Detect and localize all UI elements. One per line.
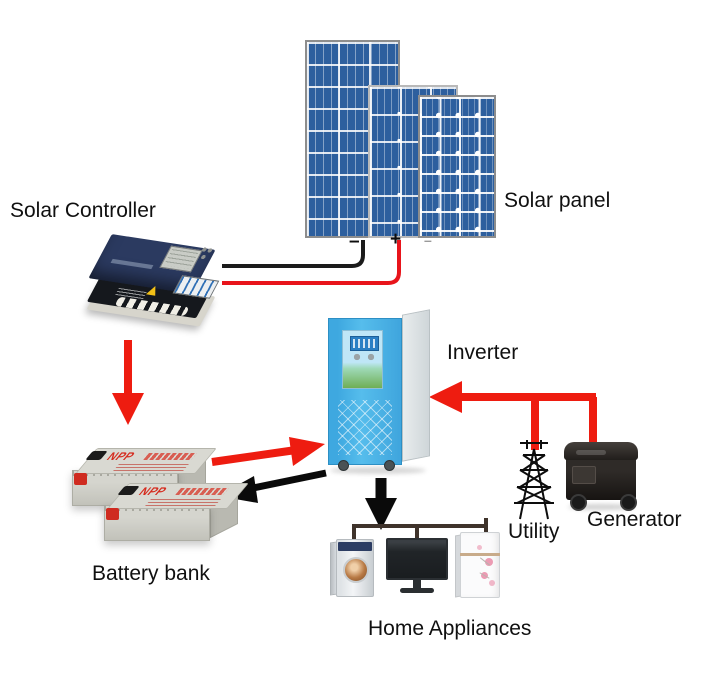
battery-positive-terminal xyxy=(74,473,87,485)
battery-model-text xyxy=(143,453,197,460)
utility-tower-icon xyxy=(514,440,554,519)
label-utility: Utility xyxy=(508,521,559,542)
arrow-inverter-to-appliances xyxy=(365,478,397,530)
arrow-controller-to-battery xyxy=(112,340,144,425)
battery-model-text xyxy=(175,488,229,495)
battery-spec-text xyxy=(113,464,189,471)
generator-control-panel xyxy=(572,466,596,484)
washer-control-panel xyxy=(338,542,372,551)
tv-screen xyxy=(386,538,448,580)
inverter-vent-mesh xyxy=(338,400,392,455)
inverter-buttons[interactable] xyxy=(352,353,376,361)
inverter-lcd-icon xyxy=(350,336,379,351)
battery-spec-text xyxy=(145,499,221,506)
battery-unit: NPP xyxy=(104,483,238,545)
washer-door xyxy=(343,557,369,583)
fridge-floral-decal xyxy=(489,580,495,586)
generator-hood xyxy=(564,442,638,460)
refrigerator xyxy=(455,528,505,600)
solar-controller xyxy=(88,238,220,330)
generator-wheel xyxy=(570,494,587,511)
label-battery-bank: Battery bank xyxy=(92,563,210,584)
label-home-appliances: Home Appliances xyxy=(368,618,531,639)
inverter-unit xyxy=(328,312,433,472)
inverter-caster xyxy=(384,460,395,471)
inverter-side-panel xyxy=(402,309,430,461)
label-solar-controller: Solar Controller xyxy=(10,200,156,221)
battery-positive-terminal xyxy=(106,508,119,520)
inverter-caster xyxy=(338,460,349,471)
television xyxy=(386,536,448,598)
fridge-door-divider xyxy=(460,553,500,556)
generator-highlight xyxy=(576,450,606,455)
generator-unit xyxy=(562,438,642,516)
tv-stand-base xyxy=(400,588,434,593)
washing-machine xyxy=(330,533,378,598)
fridge-floral-decal xyxy=(477,545,482,550)
diagram-canvas: – + – xyxy=(0,0,706,696)
label-generator: Generator xyxy=(587,509,682,530)
inverter-display-panel xyxy=(342,330,383,389)
label-solar-panel: Solar panel xyxy=(504,190,610,211)
fridge-body xyxy=(460,532,500,598)
arrow-battery-to-inverter xyxy=(212,437,325,466)
label-inverter: Inverter xyxy=(447,342,518,363)
